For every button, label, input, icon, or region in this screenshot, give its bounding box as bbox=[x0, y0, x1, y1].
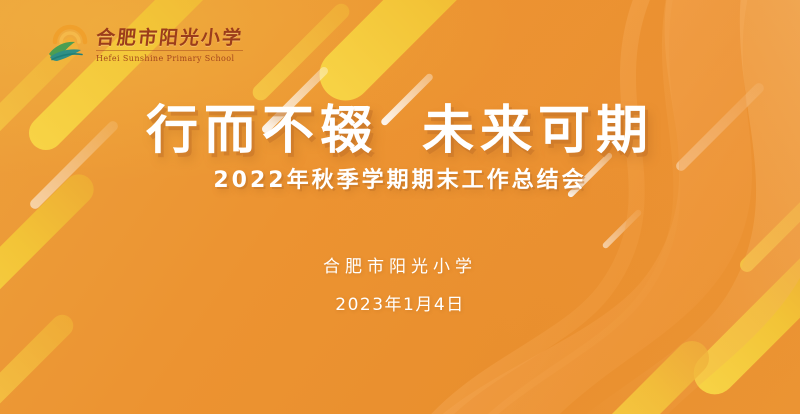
headline-phrase-right: 未来可期 bbox=[422, 101, 654, 161]
poster-canvas: 合肥市阳光小学 Hefei Sunshine Primary School 行而… bbox=[0, 0, 800, 414]
school-logo: 合肥市阳光小学 Hefei Sunshine Primary School bbox=[42, 24, 243, 68]
sunrise-book-emblem-icon bbox=[42, 24, 90, 68]
logo-divider bbox=[96, 50, 243, 51]
logo-school-name-cn: 合肥市阳光小学 bbox=[95, 29, 244, 48]
poster-subheadline: 2022年秋季学期期末工作总结会 bbox=[0, 162, 800, 194]
footer-school-name: 合肥市阳光小学 bbox=[0, 252, 800, 277]
poster-footer: 合肥市阳光小学 2023年1月4日 bbox=[0, 252, 800, 315]
poster-headline: 行而不辍未来可期 bbox=[0, 88, 800, 163]
logo-school-name-en: Hefei Sunshine Primary School bbox=[96, 55, 243, 63]
footer-date: 2023年1月4日 bbox=[0, 290, 800, 315]
headline-phrase-left: 行而不辍 bbox=[146, 101, 378, 161]
logo-wordmark: 合肥市阳光小学 Hefei Sunshine Primary School bbox=[96, 29, 243, 63]
